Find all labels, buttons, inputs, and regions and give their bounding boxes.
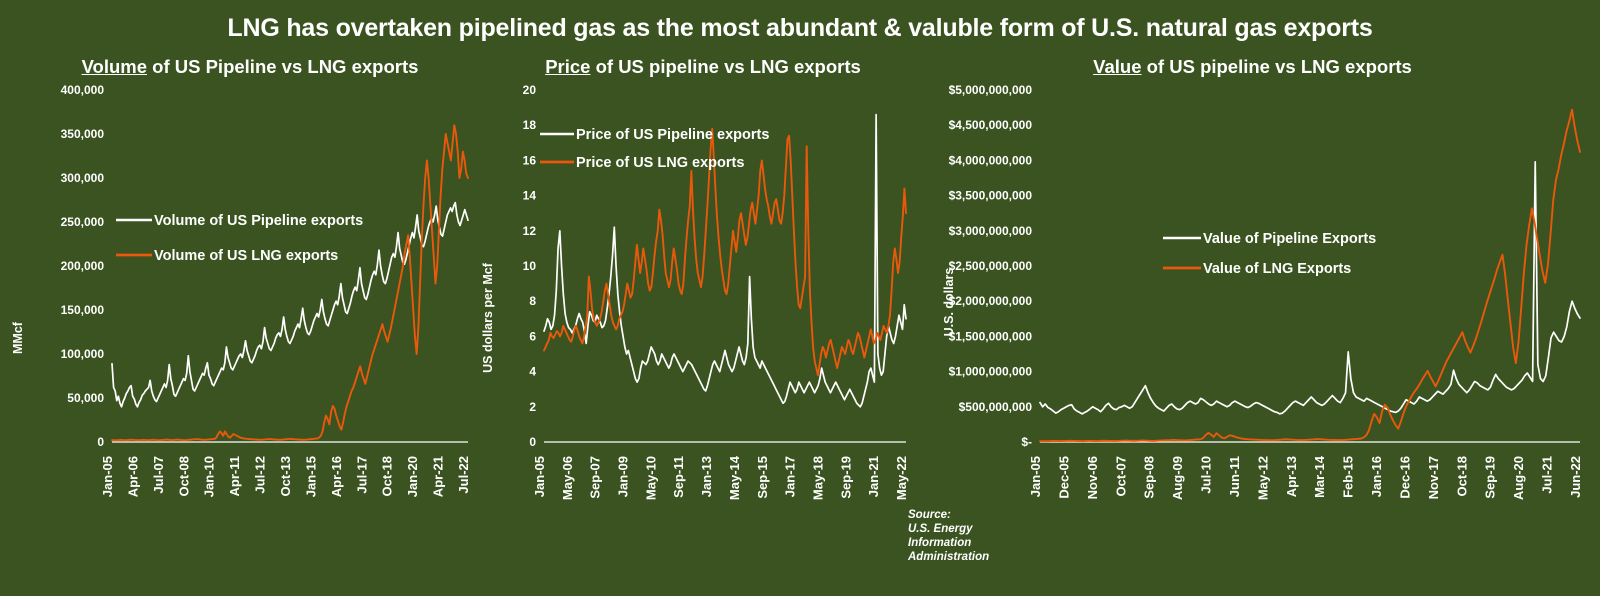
- y-axis-tick-label: $2,000,000,000: [949, 294, 1033, 308]
- plot-area-value: $5,000,000,000$4,500,000,000$4,000,000,0…: [905, 82, 1600, 582]
- y-axis-tick-label: $1,000,000,000: [949, 365, 1033, 379]
- x-axis-tick-label: Feb-15: [1341, 456, 1356, 498]
- chart-panel-price: Price of US pipeline vs LNG exports 2018…: [478, 56, 928, 596]
- y-axis-tick-label: 100,000: [61, 347, 105, 361]
- x-axis-tick-label: Sep-15: [755, 456, 770, 499]
- x-axis-tick-label: Oct-13: [278, 456, 293, 496]
- y-axis-tick-label: 350,000: [61, 127, 105, 141]
- x-axis-tick-label: May-12: [1255, 456, 1270, 500]
- x-axis-tick-label: Jan-05: [1028, 456, 1043, 497]
- y-axis-tick-label: 300,000: [61, 171, 105, 185]
- x-axis-tick-label: Jan-21: [866, 456, 881, 497]
- y-axis-tick-label: 14: [523, 189, 537, 203]
- y-axis-tick-label: $4,000,000,000: [949, 153, 1033, 167]
- x-axis-tick-label: Jan-16: [1369, 456, 1384, 497]
- series-line: [112, 125, 468, 440]
- y-axis-tick-label: 8: [529, 294, 536, 308]
- y-axis-tick-label: $2,500,000,000: [949, 259, 1033, 273]
- chart-panel-value: Value of US pipeline vs LNG exports $5,0…: [905, 56, 1600, 596]
- x-axis-tick-label: May-10: [643, 456, 658, 500]
- source-line-4: Administration: [908, 550, 989, 564]
- chart-title-volume-rest: of US Pipeline vs LNG exports: [147, 56, 418, 77]
- y-axis-tick-label: 250,000: [61, 215, 105, 229]
- x-axis-tick-label: Jan-13: [699, 456, 714, 497]
- plot-area-price: 20181614121086420US dollars per McfJan-0…: [478, 82, 928, 582]
- x-axis-tick-label: Apr-16: [329, 456, 344, 497]
- chart-title-price-emphasis: Price: [545, 56, 590, 77]
- chart-title-price: Price of US pipeline vs LNG exports: [478, 56, 928, 82]
- x-axis-tick-label: Dec-16: [1397, 456, 1412, 499]
- chart-title-value: Value of US pipeline vs LNG exports: [905, 56, 1600, 82]
- svg-price: 20181614121086420US dollars per McfJan-0…: [478, 82, 928, 582]
- source-label: Source:: [908, 508, 989, 522]
- x-axis-tick-label: Jun-11: [1227, 456, 1242, 497]
- x-axis-tick-label: Sep-19: [838, 456, 853, 499]
- legend-label: Volume of US LNG exports: [154, 248, 338, 264]
- chart-panel-volume: Volume of US Pipeline vs LNG exports 400…: [0, 56, 500, 596]
- y-axis-tick-label: 12: [523, 224, 537, 238]
- x-axis-tick-label: Aug-09: [1170, 456, 1185, 500]
- y-axis-tick-label: $3,000,000,000: [949, 224, 1033, 238]
- y-axis-title: U.S. dollars: [942, 268, 956, 337]
- y-axis-tick-label: 10: [523, 259, 537, 273]
- y-axis-tick-label: $3,500,000,000: [949, 189, 1033, 203]
- x-axis-tick-label: Mar-14: [1312, 455, 1327, 498]
- y-axis-tick-label: $1,500,000,000: [949, 329, 1033, 343]
- x-axis-tick-label: Nov-06: [1085, 456, 1100, 499]
- y-axis-tick-label: 4: [529, 365, 536, 379]
- y-axis-tick-label: 150,000: [61, 303, 105, 317]
- legend-label: Price of US LNG exports: [576, 155, 744, 171]
- series-line: [1040, 162, 1580, 414]
- x-axis-tick-label: Sep-08: [1142, 456, 1157, 499]
- legend-label: Value of Pipeline Exports: [1203, 231, 1376, 247]
- y-axis-tick-label: 6: [529, 329, 536, 343]
- legend-label: Value of LNG Exports: [1203, 261, 1351, 277]
- source-line-2: U.S. Energy: [908, 522, 989, 536]
- x-axis-tick-label: Sep-19: [1483, 456, 1498, 499]
- x-axis-tick-label: Apr-06: [125, 456, 140, 497]
- y-axis-tick-label: 200,000: [61, 259, 105, 273]
- x-axis-tick-label: Jan-10: [202, 456, 217, 497]
- legend-label: Price of US Pipeline exports: [576, 127, 769, 143]
- plot-area-volume: 400,000350,000300,000250,000200,000150,0…: [0, 82, 500, 582]
- x-axis-tick-label: May-18: [810, 456, 825, 500]
- x-axis-tick-label: Jan-17: [783, 456, 798, 497]
- y-axis-tick-label: 0: [529, 435, 536, 449]
- x-axis-tick-label: May-14: [727, 455, 742, 500]
- y-axis-tick-label: 20: [523, 83, 537, 97]
- y-axis-tick-label: 2: [529, 400, 536, 414]
- x-axis-tick-label: Jul-22: [456, 456, 471, 494]
- svg-value: $5,000,000,000$4,500,000,000$4,000,000,0…: [905, 82, 1600, 582]
- y-axis-tick-label: $4,500,000,000: [949, 118, 1033, 132]
- page-title: LNG has overtaken pipelined gas as the m…: [0, 14, 1600, 43]
- x-axis-tick-label: Sep-11: [671, 456, 686, 498]
- x-axis-tick-label: Oct-08: [176, 456, 191, 496]
- source-line-3: Information: [908, 536, 989, 550]
- x-axis-tick-label: Jul-21: [1540, 456, 1555, 494]
- x-axis-tick-label: Oct-07: [1113, 456, 1128, 496]
- x-axis-tick-label: Jul-12: [253, 456, 268, 494]
- y-axis-tick-label: 400,000: [61, 83, 105, 97]
- x-axis-tick-label: Aug-20: [1511, 456, 1526, 500]
- chart-title-volume-emphasis: Volume: [82, 56, 147, 77]
- x-axis-tick-label: Jan-09: [616, 456, 631, 497]
- chart-title-value-emphasis: Value: [1093, 56, 1141, 77]
- x-axis-tick-label: Sep-07: [588, 456, 603, 499]
- x-axis-tick-label: Oct-18: [380, 456, 395, 496]
- source-note: Source: U.S. Energy Information Administ…: [908, 508, 989, 564]
- x-axis-tick-label: Jan-05: [100, 456, 115, 497]
- series-line: [112, 203, 468, 407]
- x-axis-tick-label: Jul-07: [151, 456, 166, 494]
- svg-volume: 400,000350,000300,000250,000200,000150,0…: [0, 82, 500, 582]
- x-axis-tick-label: Jan-05: [532, 456, 547, 497]
- x-axis-tick-label: Apr-13: [1284, 456, 1299, 497]
- x-axis-tick-label: Apr-21: [431, 456, 446, 497]
- x-axis-tick-label: Jul-17: [354, 456, 369, 494]
- x-axis-tick-label: May-06: [560, 456, 575, 500]
- y-axis-tick-label: $5,000,000,000: [949, 83, 1033, 97]
- y-axis-tick-label: $500,000,000: [959, 400, 1033, 414]
- chart-title-price-rest: of US pipeline vs LNG exports: [590, 56, 860, 77]
- x-axis-tick-label: Jul-10: [1199, 456, 1214, 494]
- x-axis-tick-label: Oct-18: [1454, 456, 1469, 496]
- y-axis-tick-label: 18: [523, 118, 537, 132]
- x-axis-tick-label: Nov-17: [1426, 456, 1441, 499]
- legend-label: Volume of US Pipeline exports: [154, 213, 363, 229]
- y-axis-tick-label: 0: [97, 435, 104, 449]
- x-axis-tick-label: Jan-20: [405, 456, 420, 497]
- x-axis-tick-label: Dec-05: [1056, 456, 1071, 499]
- y-axis-title: US dollars per Mcf: [481, 262, 495, 373]
- chart-title-volume: Volume of US Pipeline vs LNG exports: [0, 56, 500, 82]
- y-axis-tick-label: 50,000: [67, 391, 104, 405]
- x-axis-tick-label: Apr-11: [227, 456, 242, 496]
- chart-title-value-rest: of US pipeline vs LNG exports: [1141, 56, 1411, 77]
- x-axis-tick-label: Jun-22: [1568, 456, 1583, 498]
- y-axis-title: MMcf: [11, 321, 25, 354]
- y-axis-tick-label: $-: [1021, 435, 1032, 449]
- y-axis-tick-label: 16: [523, 153, 537, 167]
- x-axis-tick-label: Jan-15: [303, 456, 318, 497]
